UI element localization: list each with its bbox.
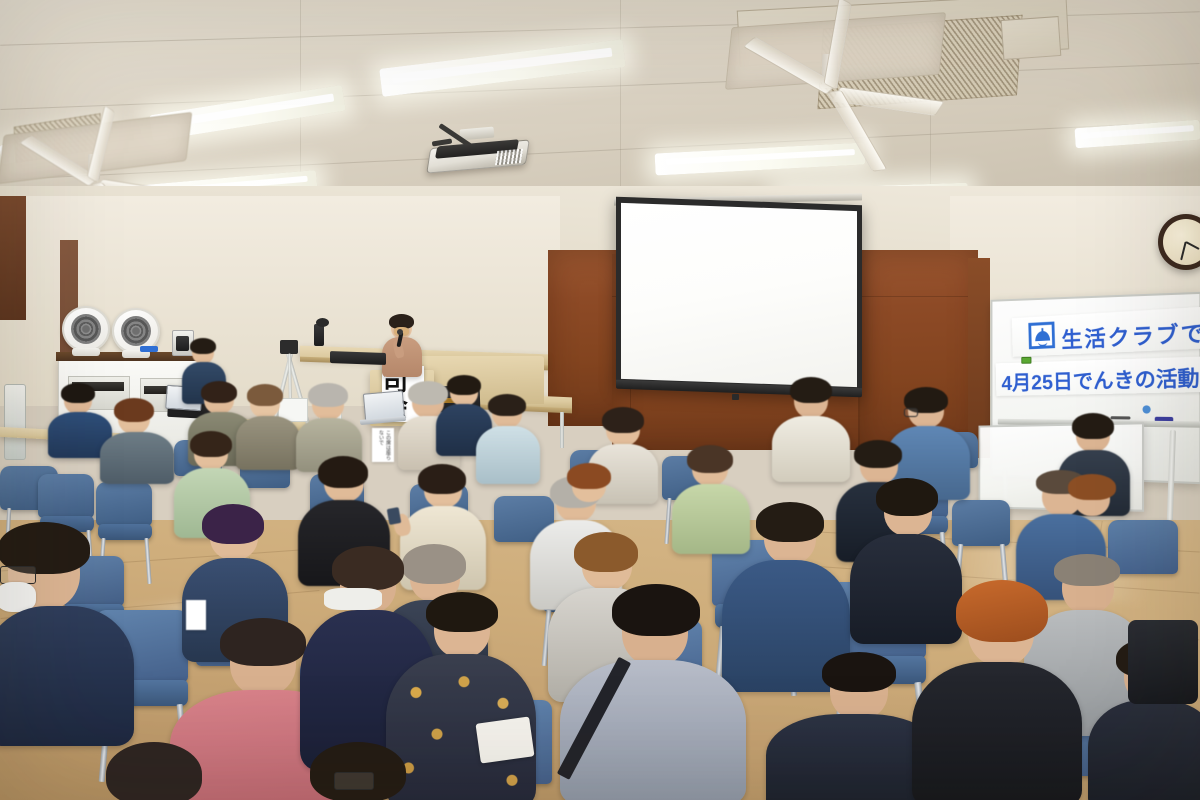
ceiling-seam <box>620 0 621 215</box>
wall-clock <box>1158 214 1200 272</box>
audience-member-orange-hair <box>912 586 1082 800</box>
banner-top: 生活クラブで <box>1012 306 1200 356</box>
banner-line1-text: 生活クラブで <box>1061 315 1200 355</box>
audience-member-strap <box>560 596 746 800</box>
meeting-room-photo: 生活クラブで 4月25日でんきの活動ス <box>0 0 1200 800</box>
microphone-head <box>397 329 403 335</box>
audience-member <box>76 742 246 800</box>
magnet-blue[interactable] <box>1143 405 1151 413</box>
reserved-seat-sign <box>186 600 206 630</box>
handout-paper[interactable] <box>475 716 534 763</box>
moderator <box>378 314 426 376</box>
wood-wall-strip <box>0 196 26 320</box>
circulator-fan <box>112 308 164 360</box>
banner-line2-text: 4月25日でんきの活動ス <box>1001 361 1200 397</box>
screen-surface <box>621 203 857 387</box>
smartphone <box>387 507 402 525</box>
audience-member-masked <box>0 534 134 734</box>
ac-access-panel <box>1001 16 1062 60</box>
circulator-fan <box>62 306 114 358</box>
seikatsu-club-umbrella-logo <box>1028 322 1055 350</box>
ceiling-fan <box>700 8 1000 118</box>
ceiling-projector <box>420 128 540 188</box>
projection-screen <box>600 196 862 406</box>
air-purifier <box>4 384 26 460</box>
scarf <box>324 588 382 610</box>
floor-bag <box>1128 620 1198 704</box>
table-leg <box>560 412 564 448</box>
reserved-seat-sign-text: この席は座らないで <box>378 430 391 460</box>
av-mixer <box>330 351 386 365</box>
audience-member <box>290 742 440 800</box>
blue-box-item <box>140 346 158 352</box>
audience-member <box>100 402 174 480</box>
reserved-seat-sign: この席は座らないで <box>372 428 394 462</box>
magnet-green[interactable] <box>1021 357 1031 364</box>
speaker-small <box>316 318 329 327</box>
